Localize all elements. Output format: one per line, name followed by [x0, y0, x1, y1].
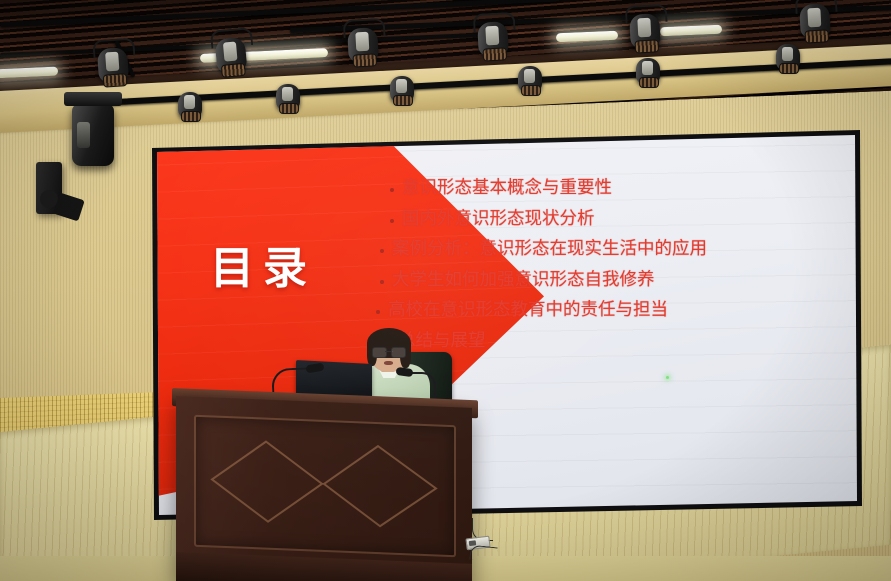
bullet-dot-icon [380, 280, 384, 284]
moving-head-light [72, 104, 114, 166]
light-lens [223, 42, 238, 62]
list-item-label: 高校在意识形态教育中的责任与担当 [388, 302, 668, 320]
light-lens [184, 95, 195, 109]
light-lens [807, 8, 821, 28]
glasses-icon [372, 347, 406, 356]
bullet-dot-icon [376, 310, 380, 314]
light-lens [396, 79, 407, 93]
list-item: 大学生如何加强意识形态自我修养 [380, 272, 860, 290]
bullet-dot-icon [390, 188, 394, 192]
stage-par-light [97, 47, 129, 83]
stage-par-light [518, 66, 542, 92]
stage-par-light [636, 58, 660, 84]
list-item: 总结与展望 [386, 333, 860, 351]
power-cable [469, 545, 497, 563]
list-item-label: 案例分析：意识形态在现实生活中的应用 [392, 241, 707, 259]
light-lens [782, 47, 793, 61]
list-item: 高校在意识形态教育中的责任与担当 [376, 302, 860, 320]
light-lens [105, 52, 119, 72]
light-lens [77, 122, 90, 148]
stage-par-light [178, 92, 202, 118]
list-item-label: 意识形态基本概念与重要性 [402, 180, 612, 198]
podium-diamond-inlay [210, 433, 438, 530]
list-item: 案例分析：意识形态在现实生活中的应用 [380, 241, 860, 259]
bullet-dot-icon [380, 249, 384, 253]
light-lens [282, 87, 293, 101]
stage-par-light [390, 76, 414, 102]
presenter-mouth [384, 361, 393, 365]
stage-par-light [776, 44, 800, 70]
list-item: 意识形态基本概念与重要性 [390, 180, 860, 198]
light-lens [485, 26, 499, 46]
stage-par-light [477, 21, 509, 57]
light-lens [637, 18, 651, 38]
stage-par-light [276, 84, 300, 110]
bullet-dot-icon [390, 219, 394, 223]
list-item: 国内外意识形态现状分析 [390, 211, 860, 229]
stage-par-light [629, 13, 661, 49]
light-lens [524, 69, 535, 83]
stage-par-light [799, 3, 831, 39]
stage-par-light [347, 27, 379, 63]
light-lens [642, 61, 653, 75]
laser-pointer-dot [666, 376, 669, 379]
glasses-lens-right [391, 347, 406, 358]
light-lens [355, 32, 369, 52]
list-item-label: 大学生如何加强意识形态自我修养 [392, 272, 655, 290]
auditorium-photo: 目录 意识形态基本概念与重要性 国内外意识形态现状分析 案例分析：意识形态在现实… [0, 0, 891, 581]
stage-par-light [215, 37, 248, 73]
list-item-label: 国内外意识形态现状分析 [402, 211, 595, 229]
glasses-lens-left [372, 347, 387, 358]
